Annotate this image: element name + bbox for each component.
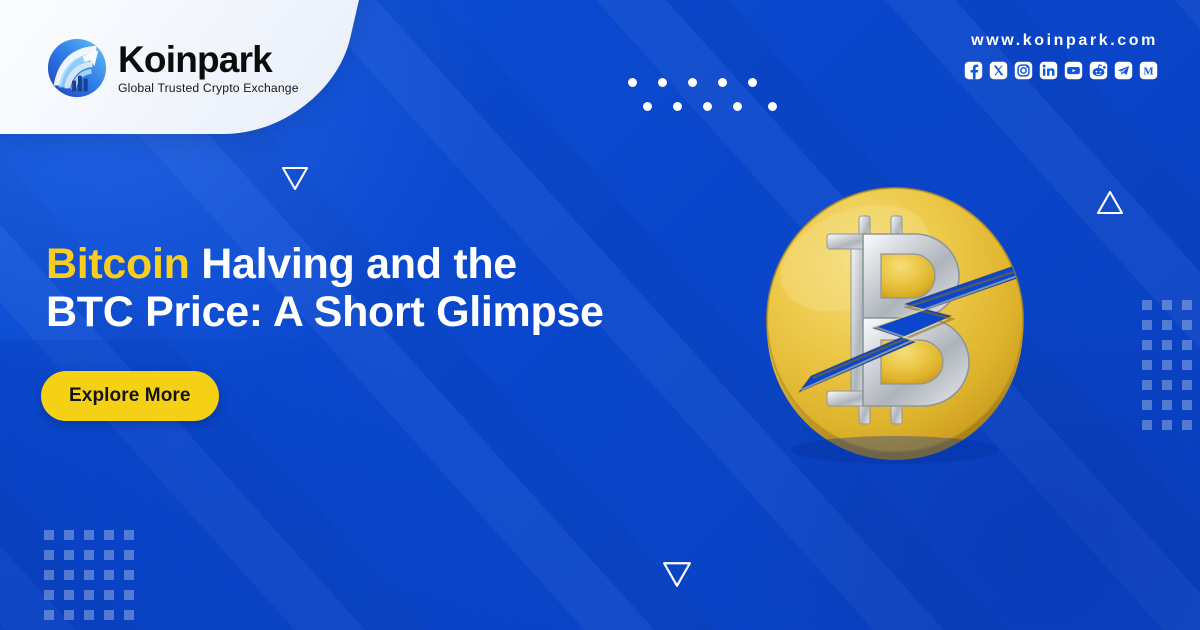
x-twitter-icon[interactable] bbox=[989, 61, 1008, 80]
youtube-icon[interactable] bbox=[1064, 61, 1083, 80]
explore-more-button[interactable]: Explore More bbox=[41, 371, 219, 421]
decorative-square-grid-right bbox=[1142, 300, 1192, 430]
brand-name: Koinpark bbox=[118, 41, 299, 79]
telegram-icon[interactable] bbox=[1114, 61, 1133, 80]
koinpark-swoosh-chart-icon bbox=[46, 37, 108, 99]
social-links: M bbox=[964, 61, 1158, 80]
headline-line-2: BTC Price: A Short Glimpse bbox=[46, 288, 746, 336]
brand-tagline: Global Trusted Crypto Exchange bbox=[118, 81, 299, 95]
brand-logo[interactable]: Koinpark Global Trusted Crypto Exchange bbox=[46, 30, 299, 106]
svg-text:M: M bbox=[1143, 66, 1153, 78]
triangle-up-icon bbox=[1096, 190, 1124, 215]
decorative-dot-cluster bbox=[628, 72, 788, 114]
facebook-icon[interactable] bbox=[964, 61, 983, 80]
page-title: Bitcoin Halving and the BTC Price: A Sho… bbox=[46, 240, 746, 336]
headline-line-1-rest: Halving and the bbox=[190, 240, 517, 288]
triangle-down-icon bbox=[281, 166, 309, 191]
triangle-down-bottom-icon bbox=[662, 561, 692, 588]
linkedin-icon[interactable] bbox=[1039, 61, 1058, 80]
decorative-square-grid-left bbox=[44, 530, 134, 620]
website-url[interactable]: www.koinpark.com bbox=[971, 32, 1158, 50]
headline-accent-word: Bitcoin bbox=[46, 240, 190, 288]
reddit-icon[interactable] bbox=[1089, 61, 1108, 80]
instagram-icon[interactable] bbox=[1014, 61, 1033, 80]
medium-icon[interactable]: M bbox=[1139, 61, 1158, 80]
promo-banner: Koinpark Global Trusted Crypto Exchange … bbox=[0, 0, 1200, 630]
cracked-bitcoin-coin-icon bbox=[755, 176, 1035, 464]
headline-line-1: Bitcoin Halving and the bbox=[46, 240, 746, 288]
